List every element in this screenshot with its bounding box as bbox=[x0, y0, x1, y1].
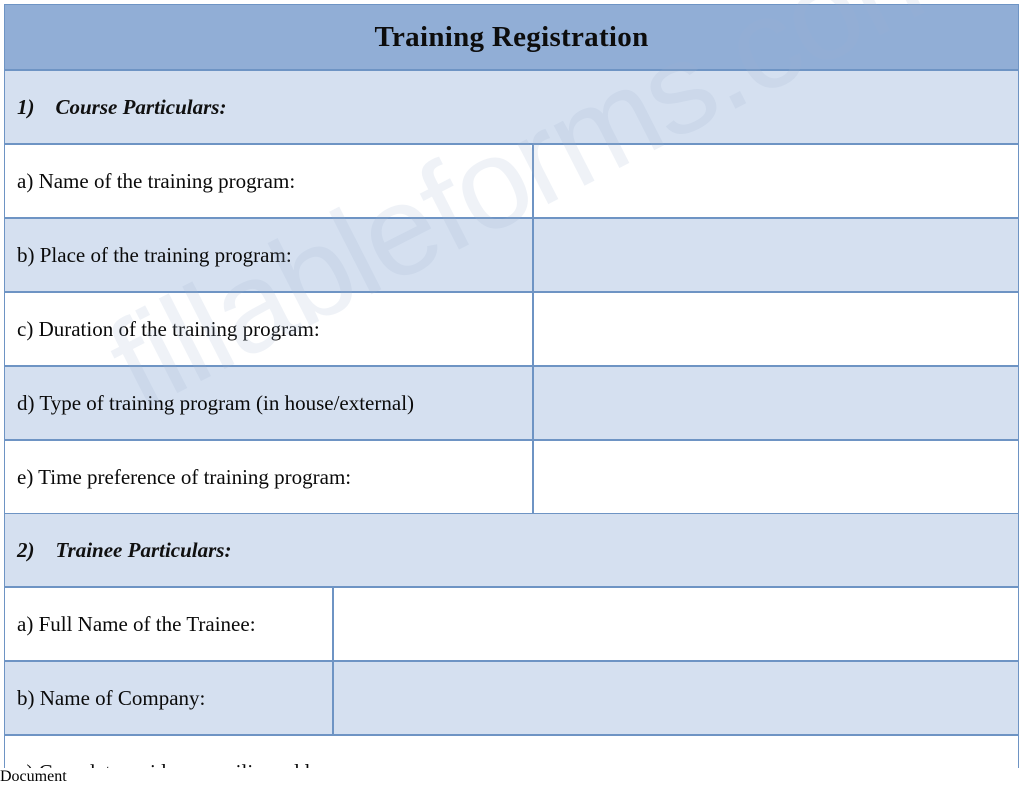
field-label: a) Name of the training program: bbox=[5, 168, 532, 194]
table-row: d) Type of training program (in house/ex… bbox=[4, 366, 1019, 440]
section-heading-row-course-particulars: 1) Course Particulars: bbox=[4, 70, 1019, 144]
field-value bbox=[334, 624, 1018, 625]
field-label: b) Name of Company: bbox=[5, 685, 332, 711]
label-cell-time-preference: e) Time preference of training program: bbox=[4, 440, 533, 514]
training-registration-form: fillableforms.com Training Registration … bbox=[0, 0, 1024, 768]
table-row: c) Complete residence mailing address: bbox=[4, 735, 1019, 768]
field-value bbox=[534, 329, 1018, 330]
section-heading-cell-course-particulars: 1) Course Particulars: bbox=[4, 70, 1019, 144]
form-table-section-2: 2) Trainee Particulars: a) Full Name of … bbox=[4, 513, 1019, 768]
field-label: e) Time preference of training program: bbox=[5, 464, 532, 490]
table-row: b) Name of Company: bbox=[4, 661, 1019, 735]
label-cell-program-duration: c) Duration of the training program: bbox=[4, 292, 533, 366]
field-value bbox=[534, 255, 1018, 256]
label-cell-mailing-address: c) Complete residence mailing address: bbox=[4, 735, 1019, 768]
form-table-section-1: Training Registration 1) Course Particul… bbox=[4, 4, 1019, 514]
field-value bbox=[334, 698, 1018, 699]
label-cell-program-type: d) Type of training program (in house/ex… bbox=[4, 366, 533, 440]
input-cell-time-preference[interactable] bbox=[533, 440, 1019, 514]
table-row: c) Duration of the training program: bbox=[4, 292, 1019, 366]
table-row: a) Full Name of the Trainee: bbox=[4, 587, 1019, 661]
label-cell-program-name: a) Name of the training program: bbox=[4, 144, 533, 218]
section-heading-cell-trainee-particulars: 2) Trainee Particulars: bbox=[4, 513, 1019, 587]
field-value bbox=[534, 477, 1018, 478]
field-label: d) Type of training program (in house/ex… bbox=[5, 390, 532, 416]
field-label: c) Complete residence mailing address: bbox=[5, 759, 1018, 768]
table-row: e) Time preference of training program: bbox=[4, 440, 1019, 514]
field-label: c) Duration of the training program: bbox=[5, 316, 532, 342]
input-cell-program-duration[interactable] bbox=[533, 292, 1019, 366]
form-title-cell: Training Registration bbox=[4, 4, 1019, 70]
table-row: a) Name of the training program: bbox=[4, 144, 1019, 218]
field-label: a) Full Name of the Trainee: bbox=[5, 611, 332, 637]
field-label: b) Place of the training program: bbox=[5, 242, 532, 268]
field-value bbox=[534, 181, 1018, 182]
section-heading-course-particulars: 1) Course Particulars: bbox=[5, 95, 1018, 120]
label-cell-trainee-full-name: a) Full Name of the Trainee: bbox=[4, 587, 333, 661]
input-cell-trainee-full-name[interactable] bbox=[333, 587, 1019, 661]
input-cell-program-place[interactable] bbox=[533, 218, 1019, 292]
field-value bbox=[534, 403, 1018, 404]
section-heading-row-trainee-particulars: 2) Trainee Particulars: bbox=[4, 513, 1019, 587]
label-cell-program-place: b) Place of the training program: bbox=[4, 218, 533, 292]
section-heading-trainee-particulars: 2) Trainee Particulars: bbox=[5, 538, 1018, 563]
input-cell-program-name[interactable] bbox=[533, 144, 1019, 218]
input-cell-company-name[interactable] bbox=[333, 661, 1019, 735]
page-title: Training Registration bbox=[375, 21, 649, 53]
label-cell-company-name: b) Name of Company: bbox=[4, 661, 333, 735]
form-title-row: Training Registration bbox=[4, 4, 1019, 70]
table-row: b) Place of the training program: bbox=[4, 218, 1019, 292]
input-cell-program-type[interactable] bbox=[533, 366, 1019, 440]
